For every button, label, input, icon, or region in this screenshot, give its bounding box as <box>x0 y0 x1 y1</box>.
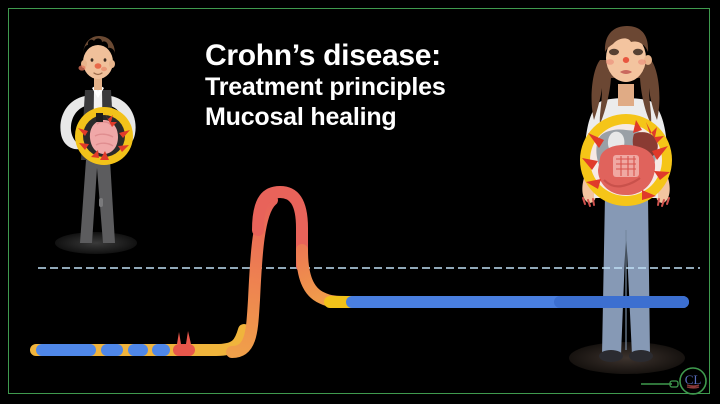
woman-cheek-left <box>606 59 614 65</box>
slide-title: Crohn’s disease: Treatment principles Mu… <box>205 40 535 133</box>
title-line-1: Crohn’s disease: <box>205 40 535 72</box>
woman-shoe-right <box>629 350 653 362</box>
man-ear-right <box>109 60 115 68</box>
slide-canvas: CL Crohn’s disease: Treatment principles… <box>0 0 720 404</box>
flare-tick-icons <box>177 331 191 344</box>
title-line-3: Mucosal healing <box>205 102 535 133</box>
woman-neck <box>618 84 634 106</box>
man-shadow <box>55 232 137 254</box>
title-line-2: Treatment principles <box>205 72 535 103</box>
man-knee-detail <box>99 198 103 207</box>
curve-fall <box>302 250 346 302</box>
disease-activity-chart <box>36 192 700 356</box>
man-eye-right <box>104 58 107 62</box>
man-figure <box>55 36 137 254</box>
woman-eyebrow-eye-left <box>609 49 619 55</box>
woman-organ-badge <box>580 114 672 206</box>
woman-nose <box>623 57 629 63</box>
man-eye-left <box>91 58 94 62</box>
flare-segment <box>173 344 195 356</box>
man-nose <box>95 63 102 69</box>
woman-eyebrow-eye-right <box>633 49 643 55</box>
man-cheek-right <box>101 67 107 71</box>
man-cheek-left <box>79 65 86 70</box>
woman-figure <box>569 26 685 374</box>
woman-shoe-left <box>599 350 623 362</box>
man-neck <box>94 78 102 90</box>
woman-cheek-right <box>638 59 646 65</box>
man-organ-badge <box>75 107 133 165</box>
woman-shadow <box>569 342 685 374</box>
man-legs <box>80 160 115 243</box>
